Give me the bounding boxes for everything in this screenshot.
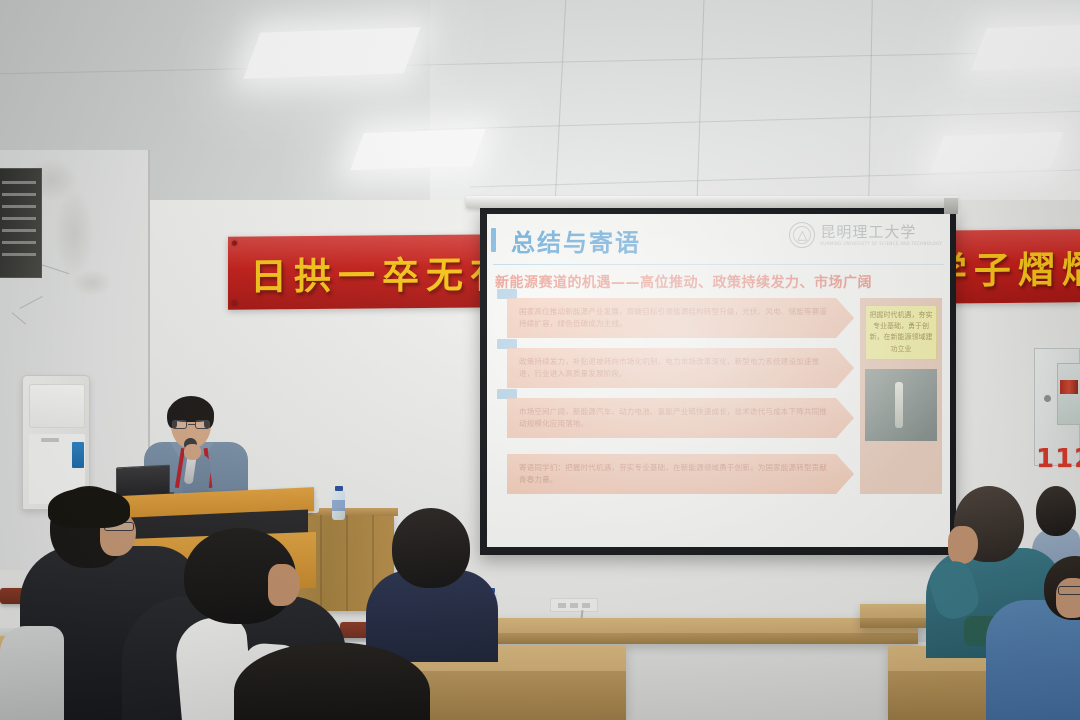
audience-face [948,526,978,564]
bullet-marker [497,339,517,349]
ac-sticker [72,442,84,468]
ceiling-grid-line [868,0,872,200]
audience-head [234,642,430,720]
eyeglasses-icon [171,420,211,429]
university-logo: △ 昆明理工大学 KUNMING UNIVERSITY OF SCIENCE A… [789,222,942,248]
speaker-hand [184,444,201,460]
chevron-block: 政策持续发力，补贴退坡转向市场化机制，电力市场改革深化，新型电力系统建设加速推进… [507,348,854,388]
power-outlet [550,598,598,612]
logo-name-cn: 昆明理工大学 [820,225,942,240]
bullet-text: 国家高位推动新能源产业发展，双碳目标引领能源结构转型升级，光伏、风电、储能等赛道… [519,306,828,331]
screen-roller-casing [466,196,958,208]
ceiling-light-panel [350,129,485,170]
list-item: 国家高位推动新能源产业发展，双碳目标引领能源结构转型升级，光伏、风电、储能等赛道… [495,298,854,338]
ceiling [0,0,1080,210]
ceiling-grid-line [420,111,1080,130]
chevron-block: 国家高位推动新能源产业发展，双碳目标引领能源结构转型升级，光伏、风电、储能等赛道… [507,298,854,338]
audience-face [1056,578,1080,618]
logo-name-en: KUNMING UNIVERSITY OF SCIENCE AND TECHNO… [820,242,942,246]
slide-subtitle: 新能源赛道的机遇——高位推动、政策持续发力、市场广阔 [495,272,950,292]
presentation-slide: 总结与寄语 △ 昆明理工大学 KUNMING UNIVERSITY OF SCI… [487,214,950,547]
list-item [0,626,64,720]
slide-header: 总结与寄语 △ 昆明理工大学 KUNMING UNIVERSITY OF SCI… [487,214,950,266]
projection-screen: 总结与寄语 △ 昆明理工大学 KUNMING UNIVERSITY OF SCI… [480,207,956,555]
side-photo [865,369,937,441]
university-seal-icon: △ [789,222,815,248]
list-item: 市场空间广阔，新能源汽车、动力电池、氢能产业链快速成长，技术迭代与成本下降共同推… [495,398,854,438]
audience-torso [0,626,64,720]
bullet-text: 寄语同学们：把握时代机遇，夯实专业基础，在新能源领域勇于创新，为国家能源转型贡献… [519,462,828,487]
water-bottle [332,486,345,520]
slide-sidebar: 把握时代机遇，夯实专业基础，勇于创新，在新能源领域建功立业 [860,298,942,494]
chevron-block: 寄语同学们：把握时代机遇，夯实专业基础，在新能源领域勇于创新，为国家能源转型贡献… [507,454,854,494]
ceiling-light-panel [931,132,1064,172]
slide-accent-bar [491,228,496,252]
ceiling-grid-line [470,169,1080,187]
list-item: 寄语同学们：把握时代机遇，夯实专业基础，在新能源领域勇于创新，为国家能源转型贡献… [495,454,854,494]
bullet-text: 政策持续发力，补贴退坡转向市场化机制，电力市场改革深化，新型电力系统建设加速推进… [519,356,828,381]
list-item [986,556,1080,720]
audience-head [392,508,470,588]
list-item [234,642,430,720]
lecture-hall-photo: 日拱一卒无有尽，功不唐捐终入海 学子熠熠生辉！ 总结与寄语 △ 昆明理工大学 K… [0,0,1080,720]
ceiling-grid-line [555,0,566,200]
slide-title: 总结与寄语 [511,223,641,258]
fire-cabinet-number: 1122 [1036,444,1080,474]
list-item [366,508,498,658]
audience-hair [48,488,130,528]
screen-mount-bracket [944,198,958,214]
wall-speaker-icon [0,168,42,278]
bullet-text: 市场空间广阔，新能源汽车、动力电池、氢能产业链快速成长，技术迭代与成本下降共同推… [519,406,828,431]
bullet-marker [497,389,517,399]
ceiling-grid-line [697,0,705,200]
slide-body: 国家高位推动新能源产业发展，双碳目标引领能源结构转型升级，光伏、风电、储能等赛道… [487,296,950,500]
ceiling-light-panel [243,27,420,78]
bullet-list: 国家高位推动新能源产业发展，双碳目标引领能源结构转型升级，光伏、风电、储能等赛道… [495,298,854,494]
chevron-block: 市场空间广阔，新能源汽车、动力电池、氢能产业链快速成长，技术迭代与成本下降共同推… [507,398,854,438]
cabinet-handle-icon [1044,395,1051,402]
slide-divider [493,264,944,265]
eyeglasses-icon [1058,586,1080,595]
side-note: 把握时代机遇，夯实专业基础，勇于创新，在新能源领域建功立业 [865,305,937,360]
bullet-marker [497,289,517,299]
list-item: 政策持续发力，补贴退坡转向市场化机制，电力市场改革深化，新型电力系统建设加速推进… [495,348,854,388]
ceiling-light-panel [971,24,1080,71]
